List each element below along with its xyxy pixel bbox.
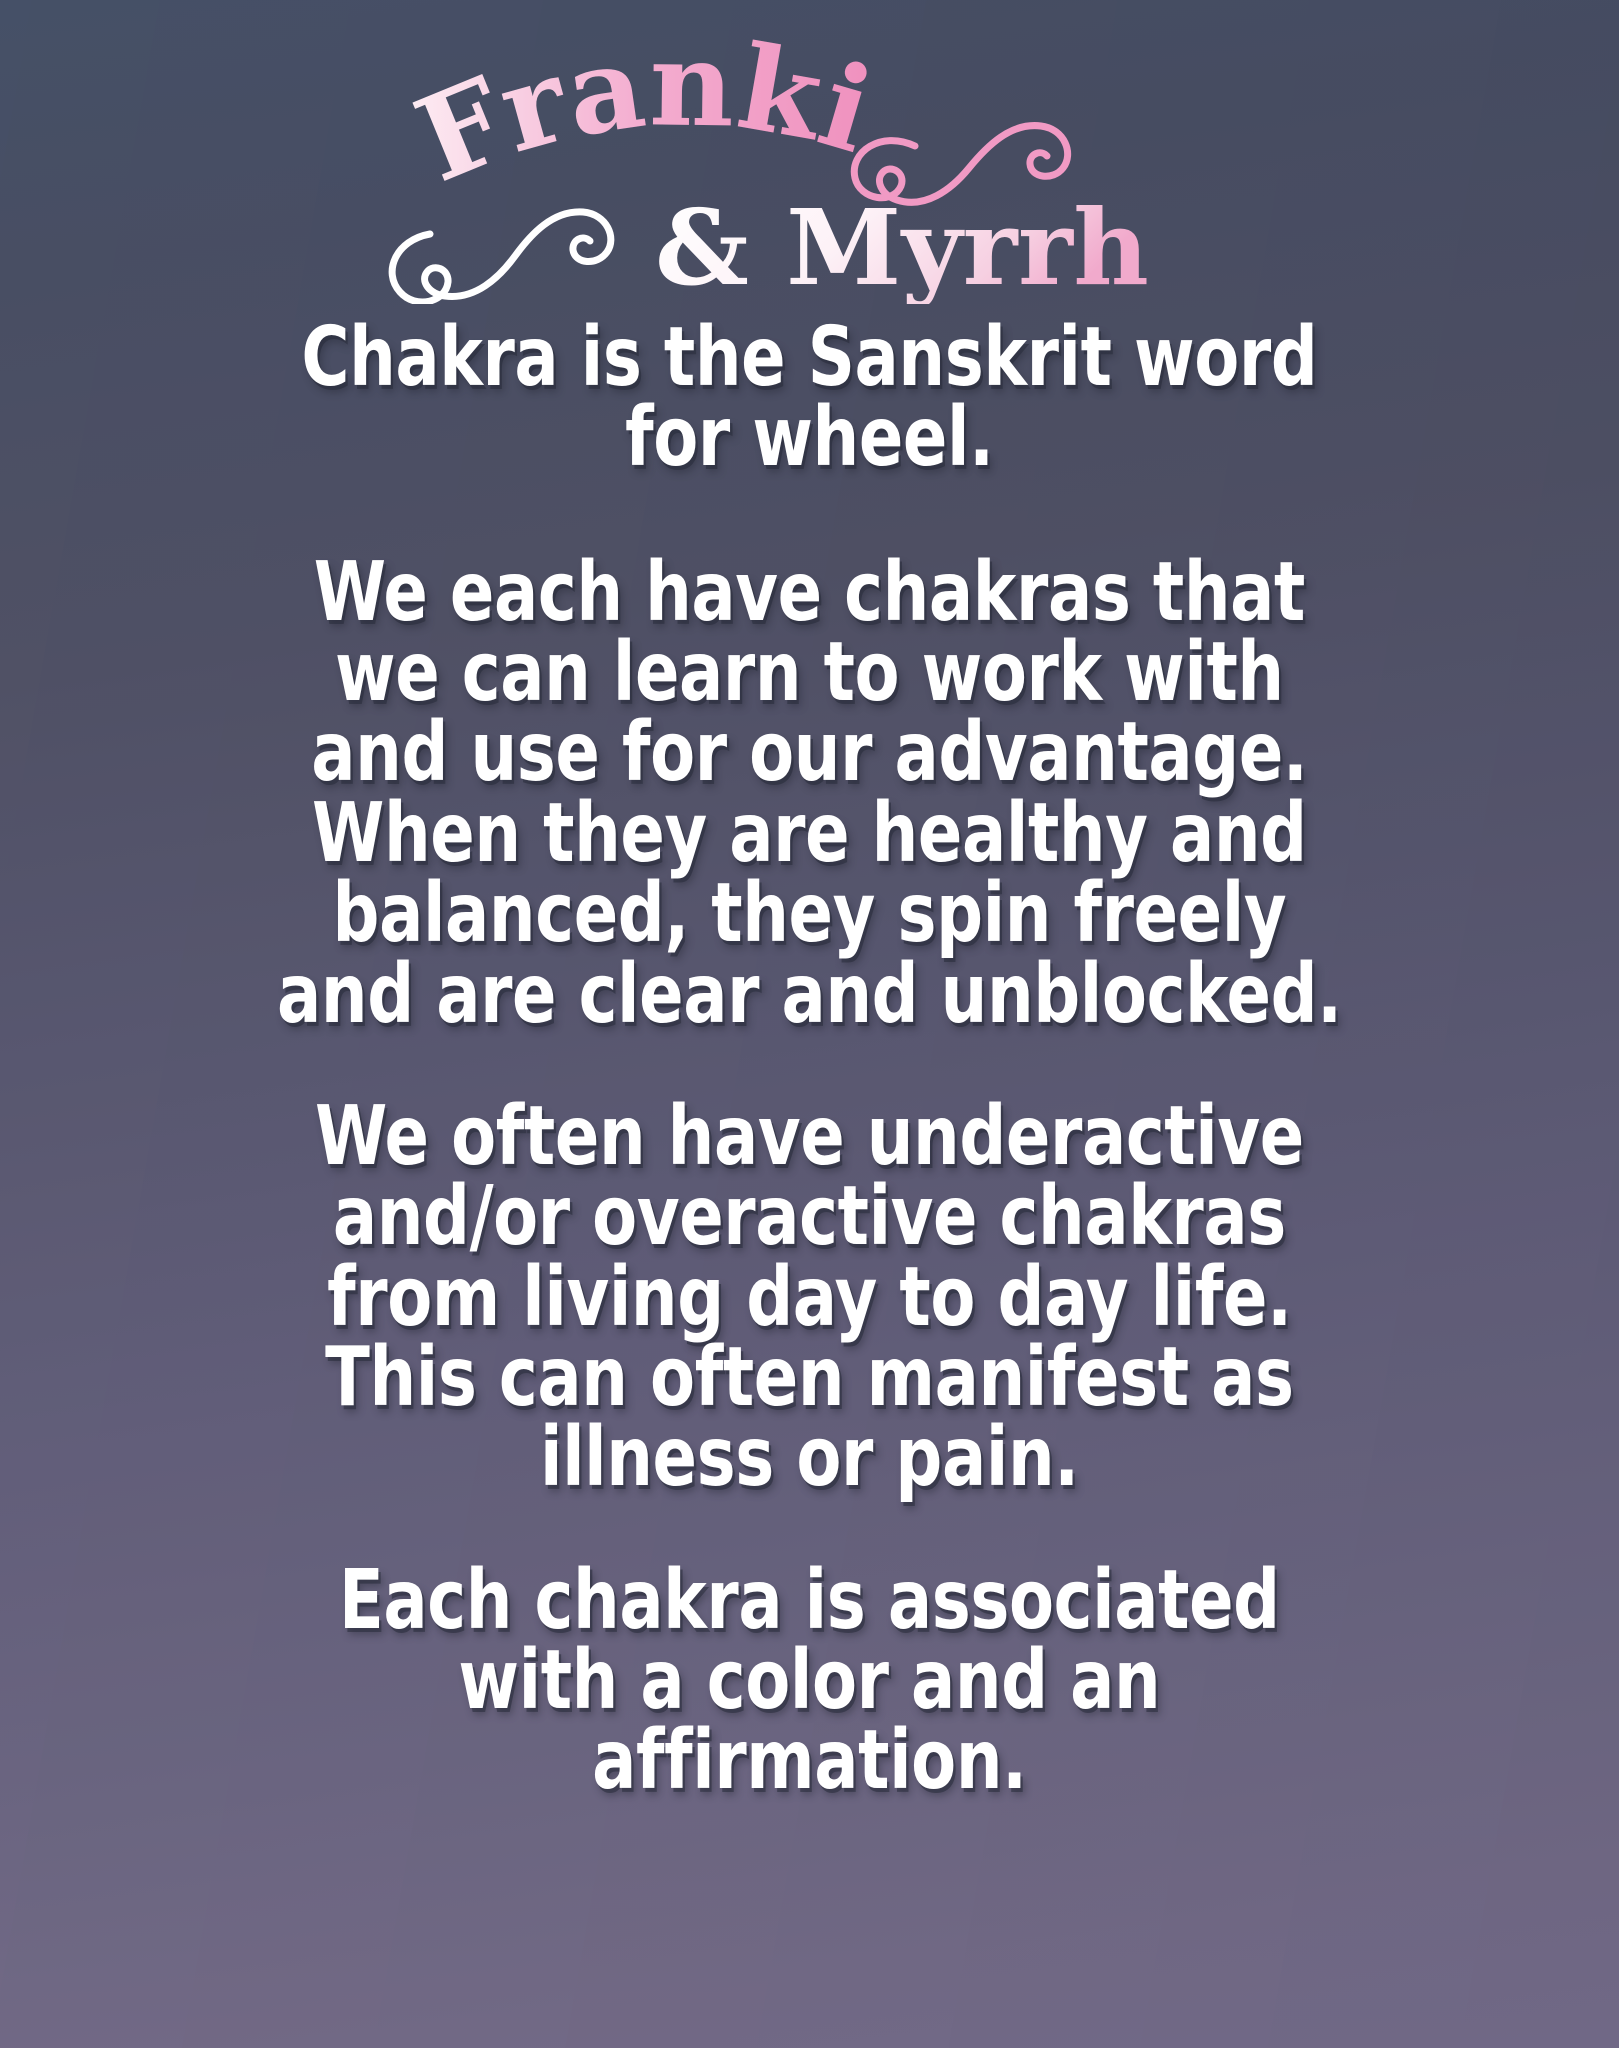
calligraphic-swirl-white-icon: [392, 212, 611, 302]
brand-logo-artwork: Frankie & Myrrh: [370, 34, 1250, 304]
paragraph-color-affirmation: Each chakra is associated with a color a…: [70, 1561, 1549, 1802]
body-copy: Chakra is the Sanskrit word for wheel. W…: [0, 300, 1619, 1842]
brand-word-myrrh: & Myrrh: [655, 186, 1149, 304]
paragraph-balanced-chakras: We each have chakras that we can learn t…: [70, 553, 1549, 1035]
paragraph-definition: Chakra is the Sanskrit word for wheel.: [70, 318, 1549, 479]
brand-word-frankie: Frankie: [370, 34, 887, 209]
paragraph-imbalanced-chakras: We often have underactive and/or overact…: [70, 1097, 1549, 1499]
brand-logo[interactable]: Frankie & Myrrh: [0, 0, 1619, 300]
chakra-info-card: Frankie & Myrrh Chakra is the Sanskrit w…: [0, 0, 1619, 2048]
